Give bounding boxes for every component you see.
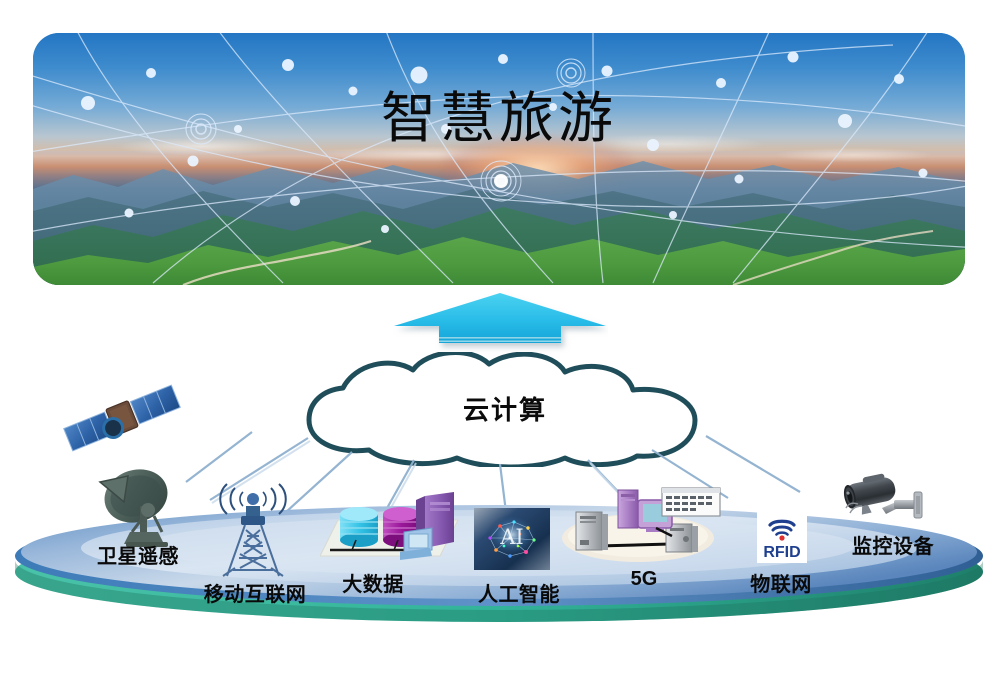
rfid-text: RFID <box>763 544 800 561</box>
satellite-icon <box>58 372 186 464</box>
node-label-monitoring-equipment: 监控设备 <box>838 530 948 559</box>
network-servers-icon <box>560 484 726 564</box>
banner-network-overlay <box>33 33 965 285</box>
upward-arrow-icon <box>393 291 608 353</box>
page-title: 智慧旅游 <box>33 91 965 146</box>
cloud-computing-node[interactable]: 云计算 <box>265 352 745 467</box>
cloud-label: 云计算 <box>265 390 745 427</box>
ai-brain-icon: AI <box>474 508 550 570</box>
rfid-icon: RFID <box>757 505 807 563</box>
node-label-satellite-remote-sensing: 卫星遥感 <box>72 540 204 569</box>
cell-tower-icon <box>205 482 301 580</box>
database-server-icon <box>320 492 462 570</box>
node-label-artificial-intelligence: 人工智能 <box>460 578 578 607</box>
cctv-camera-icon <box>838 468 930 530</box>
node-label-internet-of-things: 物联网 <box>726 568 836 597</box>
node-label-mobile-internet: 移动互联网 <box>186 578 324 607</box>
hero-banner: 智慧旅游 <box>33 33 965 285</box>
ai-text: AI <box>499 525 523 549</box>
node-label-big-data: 大数据 <box>325 568 421 597</box>
node-label-five-g: 5G <box>612 568 676 591</box>
